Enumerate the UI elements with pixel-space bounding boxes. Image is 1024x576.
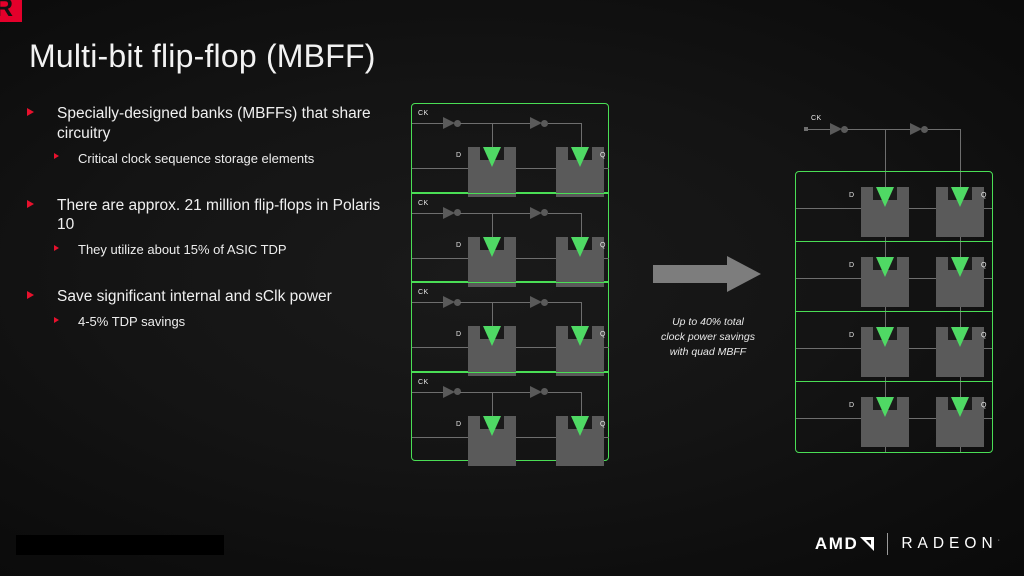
data-out-label: Q	[981, 402, 987, 409]
bullet-level1: Save significant internal and sClk power	[22, 287, 392, 307]
flip-flop-master	[861, 257, 909, 307]
logo-divider	[887, 533, 888, 555]
clock-input-terminal	[804, 127, 808, 131]
bullet-marker-icon	[27, 200, 34, 208]
clock-input-wire	[412, 392, 444, 393]
clock-wire-out	[548, 302, 582, 303]
clock-triangle-icon	[571, 147, 589, 167]
arrow-head	[727, 256, 761, 292]
data-in-label: D	[849, 192, 854, 199]
data-in-label: D	[456, 152, 461, 159]
data-in-wire	[412, 347, 469, 348]
clock-wire-out	[548, 392, 582, 393]
data-in-wire	[796, 278, 862, 279]
data-out-label: Q	[600, 331, 606, 338]
inverter-bubble	[541, 299, 548, 306]
clock-wire-out	[928, 129, 961, 130]
bullet-level2-text: 4-5% TDP savings	[78, 314, 185, 329]
flip-flop-slave	[556, 147, 604, 197]
data-out-wire	[984, 418, 992, 419]
clock-wire-out	[548, 213, 582, 214]
radeon-text: RADEON	[901, 535, 997, 552]
mbff-row: DQ	[796, 242, 992, 312]
inter-stage-wire	[516, 168, 557, 169]
bullet-level2-text: Critical clock sequence storage elements	[78, 151, 314, 166]
clock-triangle-icon	[951, 327, 969, 347]
flip-flop-slave	[556, 237, 604, 287]
clock-triangle-icon	[571, 416, 589, 436]
bullet-group-1: Specially-designed banks (MBFFs) that sh…	[22, 104, 392, 168]
flip-flop-master	[468, 326, 516, 376]
caption-line-3: with quad MBFF	[628, 345, 788, 360]
corner-logo: R	[0, 0, 22, 22]
flip-flop-unit: CKDQ	[411, 103, 609, 193]
data-in-wire	[412, 168, 469, 169]
data-out-wire	[984, 278, 992, 279]
clock-triangle-icon	[571, 326, 589, 346]
clock-branch-1	[492, 302, 493, 327]
inter-stage-wire	[909, 418, 937, 419]
caption-line-2: clock power savings	[628, 330, 788, 345]
data-out-label: Q	[981, 192, 987, 199]
bullet-group-2: There are approx. 21 million flip-flops …	[22, 196, 392, 260]
data-in-wire	[412, 437, 469, 438]
amd-logo: AMD	[815, 534, 875, 554]
clock-trunk-1	[885, 129, 886, 171]
bullet-sub-marker-icon	[54, 317, 59, 323]
bullet-level1: Specially-designed banks (MBFFs) that sh…	[22, 104, 392, 144]
diagram-single-bit-flip-flops: CKDQCKDQCKDQCKDQ	[411, 103, 609, 461]
arrow-caption: Up to 40% total clock power savings with…	[628, 315, 788, 361]
trademark-mark: ·	[998, 537, 1000, 544]
data-in-wire	[796, 208, 862, 209]
slide-canvas: R Multi-bit flip-flop (MBFF) Specially-d…	[0, 0, 1024, 576]
clock-triangle-icon	[571, 237, 589, 257]
bullet-level1-text: Save significant internal and sClk power	[57, 288, 332, 305]
bullet-level1: There are approx. 21 million flip-flops …	[22, 196, 392, 236]
inter-stage-wire	[516, 437, 557, 438]
bullet-sub-marker-icon	[54, 153, 59, 159]
clock-branch-1	[492, 213, 493, 238]
caption-line-1: Up to 40% total	[628, 315, 788, 330]
arrow-shaft	[653, 265, 729, 283]
mbff-bank-box: DQDQDQDQ	[795, 171, 993, 453]
clock-input-wire	[412, 302, 444, 303]
bullet-level2-text: They utilize about 15% of ASIC TDP	[78, 242, 287, 257]
bullet-level2: 4-5% TDP savings	[22, 313, 392, 331]
flip-flop-slave	[556, 326, 604, 376]
flip-flop-slave	[936, 397, 984, 447]
clock-triangle-icon	[876, 397, 894, 417]
redaction-bar	[16, 535, 224, 555]
clock-wire-out	[548, 123, 582, 124]
shared-clock-tree: CK	[795, 113, 993, 171]
footer-logos: AMD RADEON·	[815, 533, 1000, 555]
data-out-label: Q	[981, 332, 987, 339]
clock-wire-mid	[460, 123, 531, 124]
clock-triangle-icon	[483, 326, 501, 346]
clock-triangle-icon	[951, 187, 969, 207]
bullet-sub-marker-icon	[54, 245, 59, 251]
flip-flop-slave	[936, 327, 984, 377]
flip-flop-unit: CKDQ	[411, 372, 609, 462]
inverter-bubble	[541, 209, 548, 216]
flip-flop-master	[861, 327, 909, 377]
bullet-group-3: Save significant internal and sClk power…	[22, 287, 392, 331]
data-in-wire	[412, 258, 469, 259]
data-out-wire	[984, 348, 992, 349]
clock-wire-mid	[460, 213, 531, 214]
clock-label: CK	[418, 379, 429, 386]
flip-flop-unit: CKDQ	[411, 193, 609, 283]
data-out-label: Q	[600, 421, 606, 428]
corner-logo-letter: R	[0, 0, 13, 21]
data-in-label: D	[849, 262, 854, 269]
flip-flop-slave	[556, 416, 604, 466]
data-out-label: Q	[981, 262, 987, 269]
flip-flop-master	[468, 416, 516, 466]
bullet-list: Specially-designed banks (MBFFs) that sh…	[22, 104, 392, 359]
data-out-label: Q	[600, 152, 606, 159]
data-in-label: D	[456, 242, 461, 249]
amd-arrow-icon	[860, 537, 874, 551]
clock-wire-mid	[460, 392, 531, 393]
clock-branch-1	[492, 392, 493, 417]
bullet-marker-icon	[27, 108, 34, 116]
flip-flop-unit: CKDQ	[411, 282, 609, 372]
clock-label: CK	[418, 200, 429, 207]
data-out-wire	[604, 168, 609, 169]
flip-flop-slave	[936, 257, 984, 307]
inverter-bubble	[541, 120, 548, 127]
flip-flop-master	[468, 237, 516, 287]
clock-branch-2	[581, 213, 582, 238]
bullet-marker-icon	[27, 291, 34, 299]
clock-triangle-icon	[951, 257, 969, 277]
inverter-bubble	[541, 388, 548, 395]
data-in-label: D	[456, 421, 461, 428]
data-in-wire	[796, 348, 862, 349]
inter-stage-wire	[909, 208, 937, 209]
clock-input-wire	[805, 129, 831, 130]
clock-wire-mid	[847, 129, 911, 130]
flip-flop-master	[861, 187, 909, 237]
diagram-quad-mbff: CKDQDQDQDQ	[795, 113, 993, 453]
clock-triangle-icon	[876, 327, 894, 347]
bullet-level2: Critical clock sequence storage elements	[22, 150, 392, 168]
clock-trunk-2	[960, 129, 961, 171]
radeon-wordmark: RADEON·	[901, 535, 1000, 553]
amd-wordmark: AMD	[815, 534, 859, 554]
data-in-wire	[796, 418, 862, 419]
flip-flop-slave	[936, 187, 984, 237]
bullet-level2: They utilize about 15% of ASIC TDP	[22, 241, 392, 259]
inverter-bubble	[921, 126, 928, 133]
clock-triangle-icon	[876, 187, 894, 207]
clock-branch-2	[581, 302, 582, 327]
clock-branch-2	[581, 392, 582, 417]
inter-stage-wire	[909, 278, 937, 279]
data-in-label: D	[456, 331, 461, 338]
clock-triangle-icon	[483, 237, 501, 257]
mbff-row: DQ	[796, 312, 992, 382]
mbff-row: DQ	[796, 382, 992, 452]
clock-triangle-icon	[483, 147, 501, 167]
clock-label: CK	[811, 115, 822, 122]
data-out-wire	[604, 437, 609, 438]
transition-arrow-icon	[653, 256, 765, 292]
inter-stage-wire	[516, 258, 557, 259]
flip-flop-master	[468, 147, 516, 197]
flip-flop-master	[861, 397, 909, 447]
page-title: Multi-bit flip-flop (MBFF)	[29, 38, 376, 75]
bullet-level1-text: There are approx. 21 million flip-flops …	[57, 197, 380, 234]
clock-triangle-icon	[876, 257, 894, 277]
clock-wire-mid	[460, 302, 531, 303]
clock-triangle-icon	[483, 416, 501, 436]
clock-branch-1	[492, 123, 493, 148]
data-out-label: Q	[600, 242, 606, 249]
clock-branch-2	[581, 123, 582, 148]
data-in-label: D	[849, 402, 854, 409]
data-out-wire	[604, 347, 609, 348]
data-out-wire	[984, 208, 992, 209]
mbff-row: DQ	[796, 172, 992, 242]
clock-input-wire	[412, 213, 444, 214]
inter-stage-wire	[516, 347, 557, 348]
inter-stage-wire	[909, 348, 937, 349]
data-in-label: D	[849, 332, 854, 339]
clock-triangle-icon	[951, 397, 969, 417]
data-out-wire	[604, 258, 609, 259]
bullet-level1-text: Specially-designed banks (MBFFs) that sh…	[57, 105, 371, 142]
clock-label: CK	[418, 289, 429, 296]
clock-input-wire	[412, 123, 444, 124]
clock-label: CK	[418, 110, 429, 117]
